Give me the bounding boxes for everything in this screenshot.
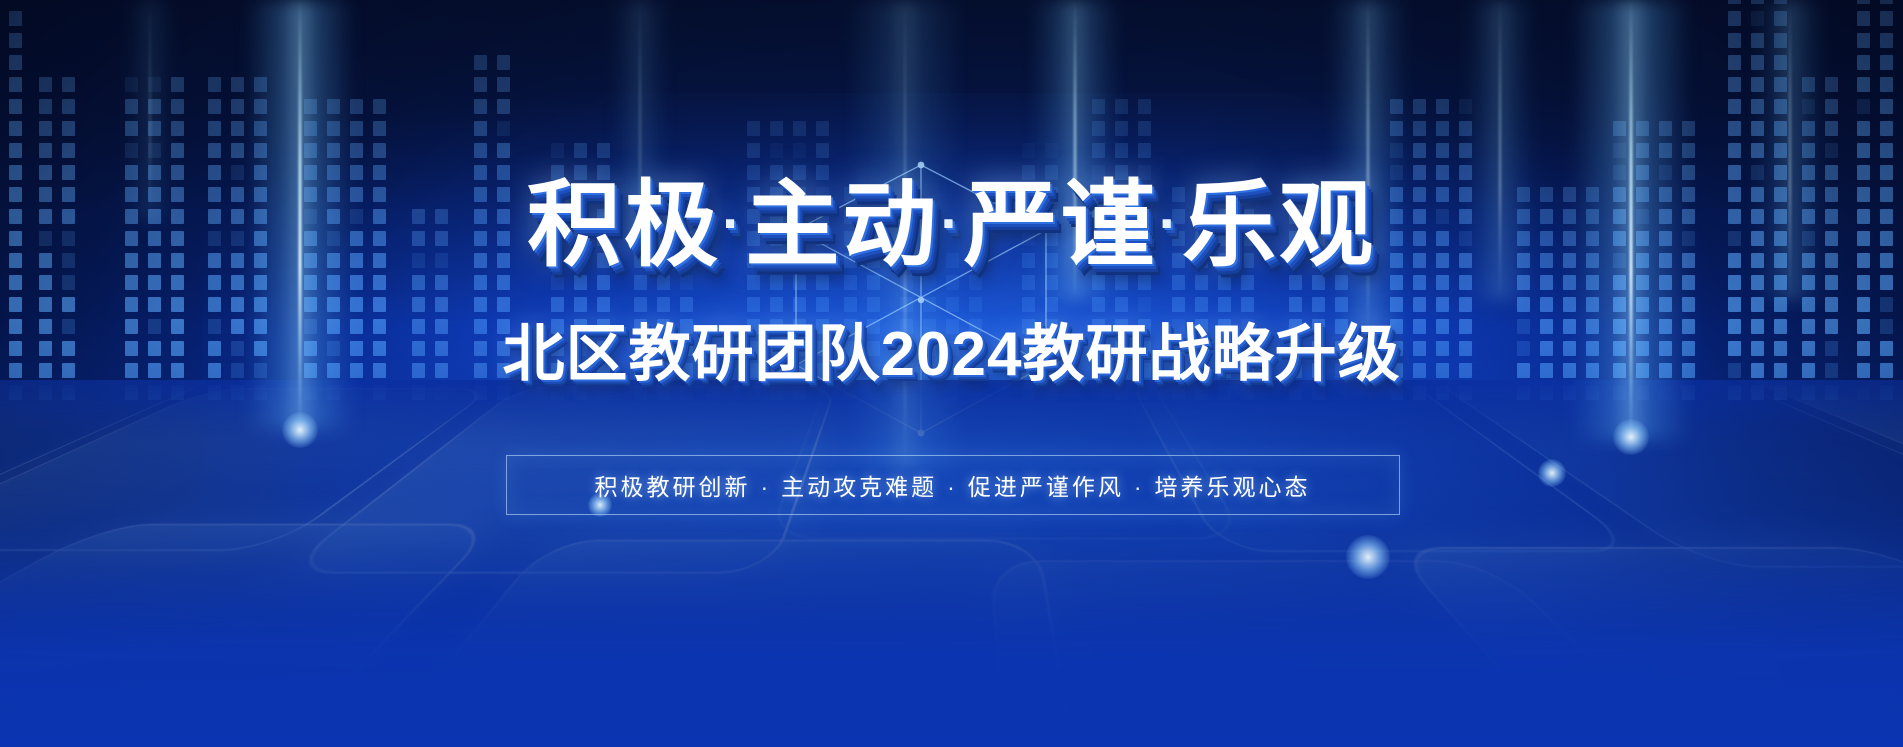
banner-canvas: 积极·主动·严谨·乐观 北区教研团队2024教研战略升级 积极教研创新·主动攻克… xyxy=(0,0,1903,747)
tagline-frame: 积极教研创新·主动攻克难题·促进严谨作风·培养乐观心态 xyxy=(506,455,1400,515)
title-word: 主动 xyxy=(745,172,939,277)
tagline-item: 培养乐观心态 xyxy=(1155,474,1311,500)
tagline-item: 积极教研创新 xyxy=(594,474,750,500)
banner-subtitle: 北区教研团队2024教研战略升级 xyxy=(0,324,1903,386)
tagline-separator: · xyxy=(1124,474,1155,500)
tagline-item: 促进严谨作风 xyxy=(968,474,1124,500)
banner-main-title: 积极·主动·严谨·乐观 xyxy=(0,178,1903,272)
tagline-separator: · xyxy=(937,474,968,500)
tagline-item: 主动攻克难题 xyxy=(781,474,937,500)
title-separator: · xyxy=(721,191,745,256)
banner-content: 积极·主动·严谨·乐观 北区教研团队2024教研战略升级 积极教研创新·主动攻克… xyxy=(0,0,1903,747)
title-word: 积极 xyxy=(527,172,721,277)
title-separator: · xyxy=(1158,191,1182,256)
tagline-separator: · xyxy=(750,474,781,500)
tagline-text: 积极教研创新·主动攻克难题·促进严谨作风·培养乐观心态 xyxy=(594,468,1310,502)
title-separator: · xyxy=(939,191,963,256)
title-word: 严谨 xyxy=(964,172,1158,277)
title-word: 乐观 xyxy=(1182,172,1376,277)
